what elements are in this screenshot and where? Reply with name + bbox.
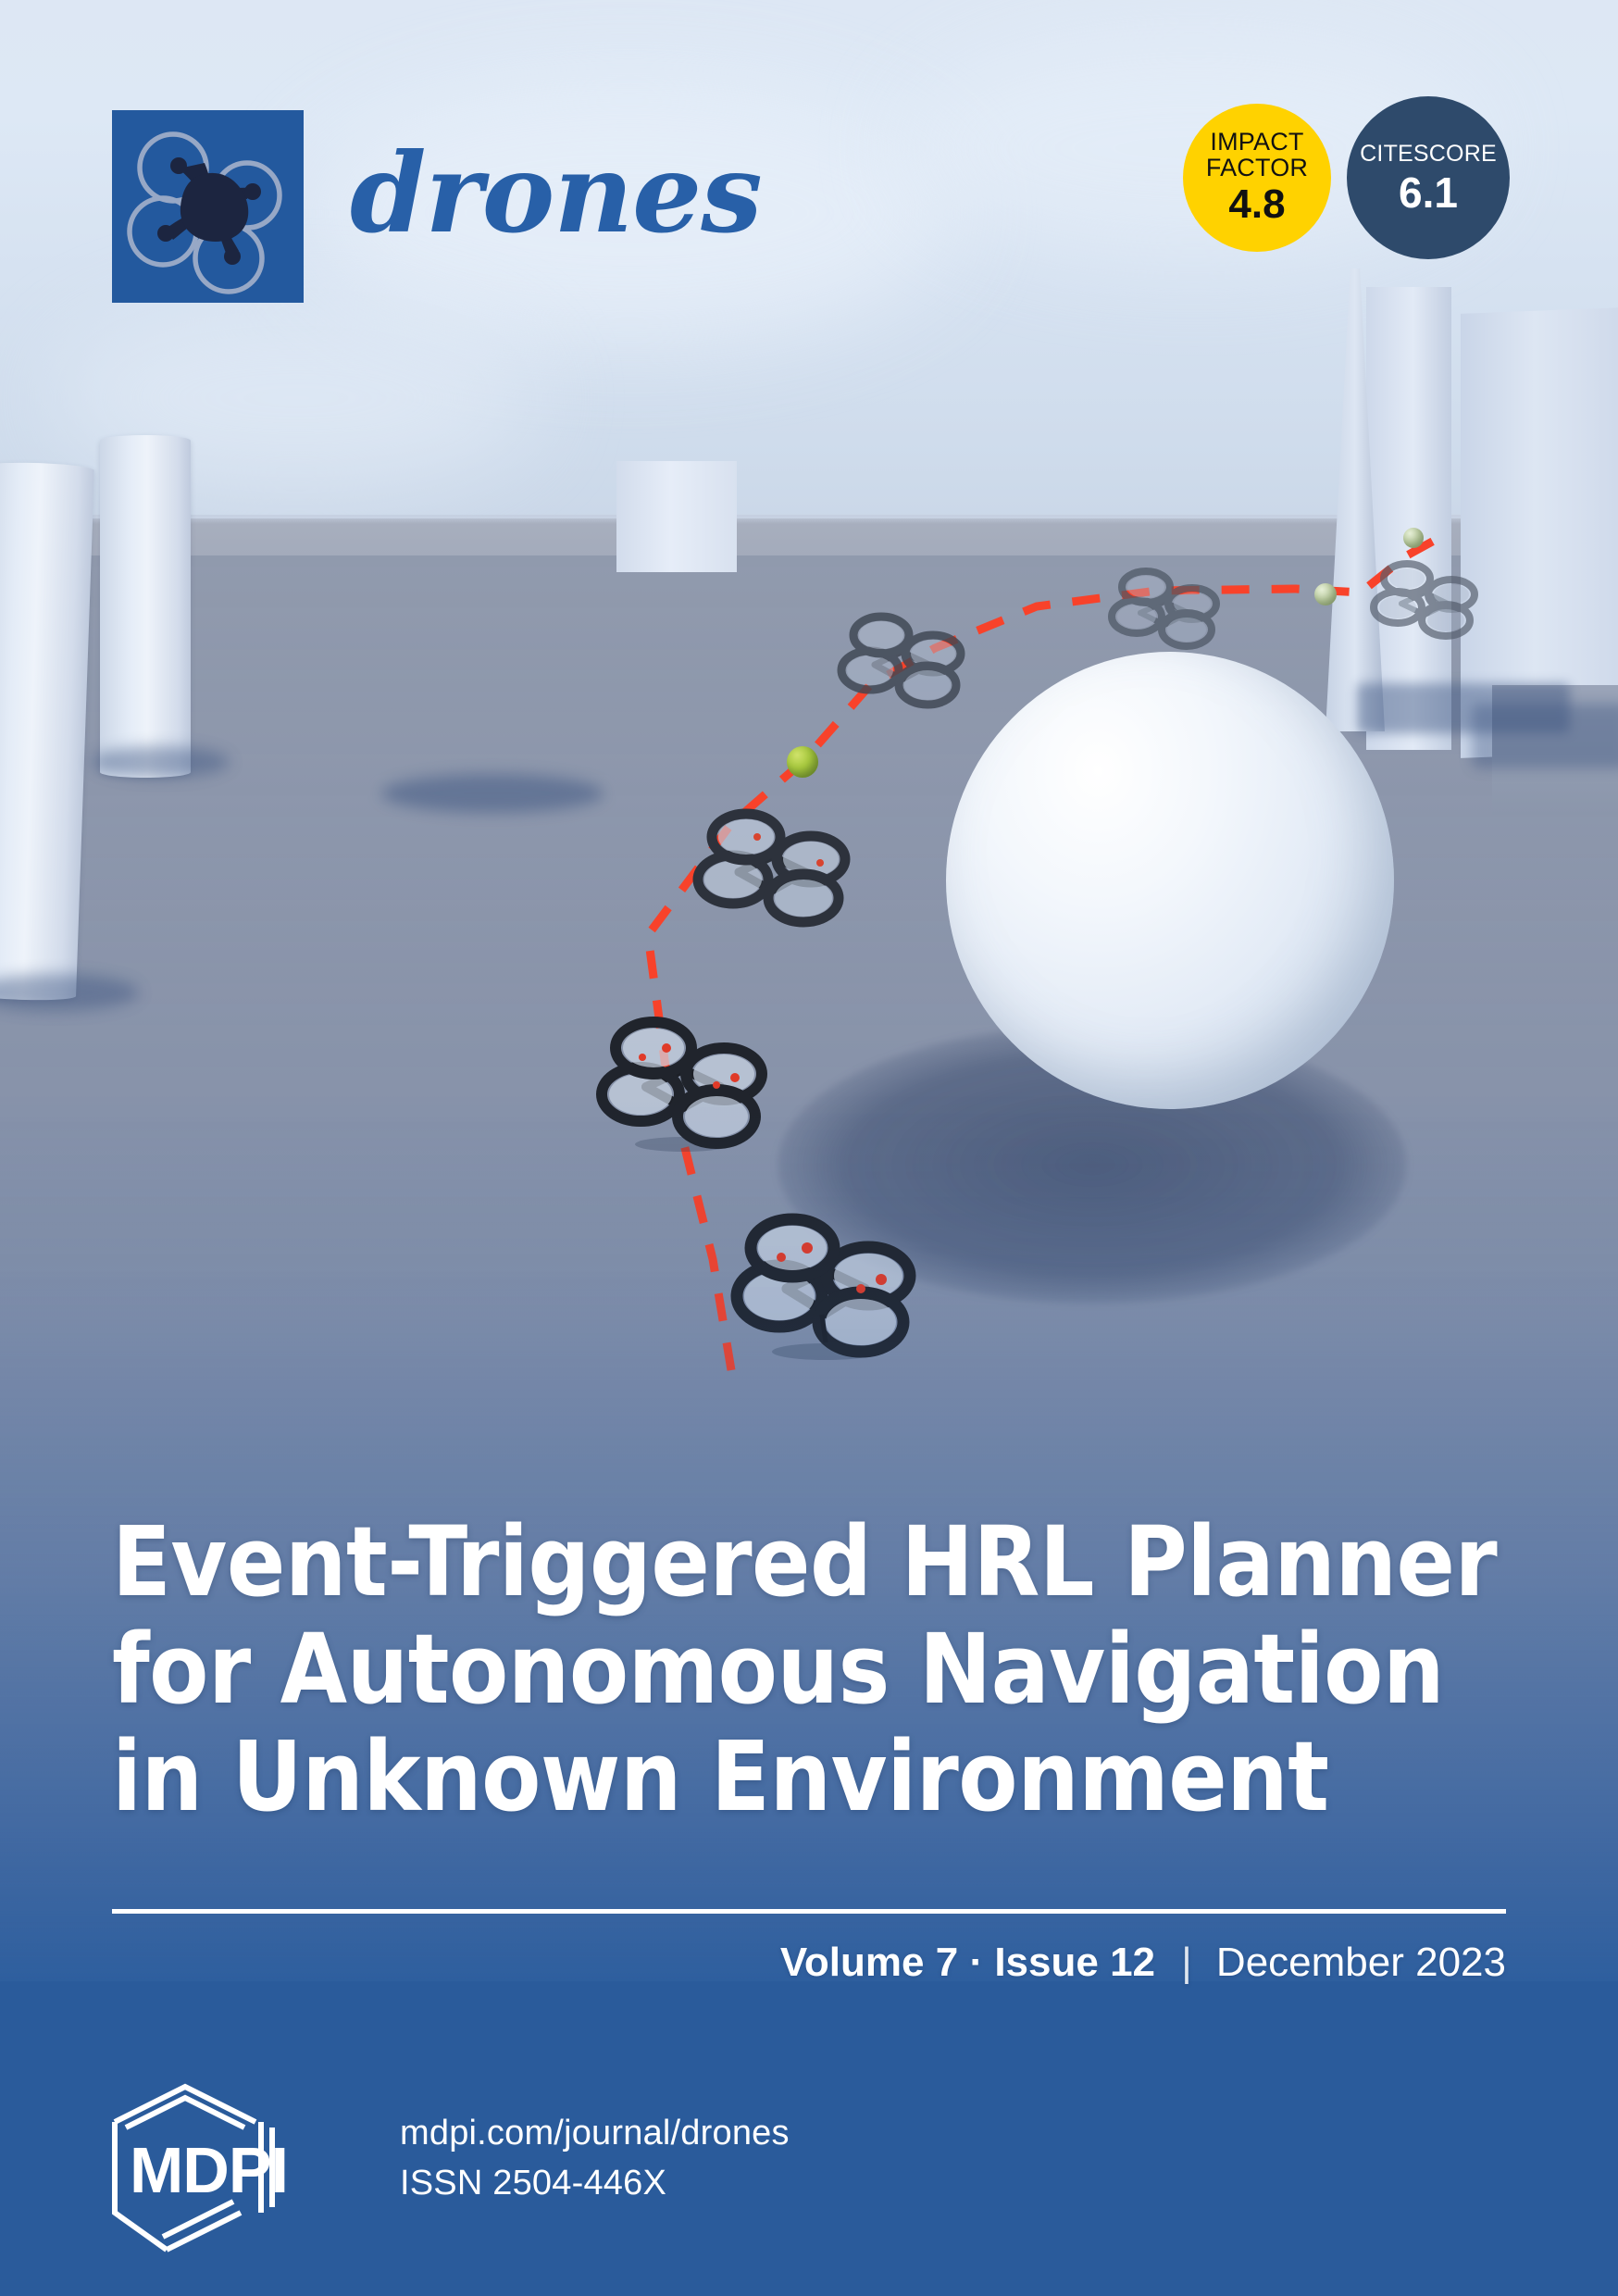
volume-issue-dot: · [969, 1940, 983, 1985]
box-obstacle [616, 461, 737, 572]
mdpi-logo[interactable]: MDPI [109, 2083, 324, 2254]
journal-wordmark[interactable]: drones [350, 139, 762, 248]
obstacle-shadow [91, 746, 230, 778]
title-divider [112, 1909, 1506, 1914]
mdpi-hexagon-logo: MDPI [109, 2083, 324, 2254]
volume-label: Volume 7 [780, 1940, 958, 1985]
cover-title-line-3: in Unknown Environment [112, 1724, 1500, 1831]
impact-factor-badge[interactable]: IMPACT FACTOR 4.8 [1183, 104, 1331, 252]
issue-label: Issue 12 [994, 1940, 1155, 1985]
cover-title: Event-Triggered HRL Planner for Autonomo… [112, 1509, 1500, 1831]
quadcopter-drone [833, 607, 970, 715]
journal-issn: ISSN 2504-446X [400, 2159, 790, 2209]
quadcopter-drone [1105, 563, 1224, 655]
cover-title-line-2: for Autonomous Navigation [112, 1616, 1500, 1724]
obstacle-shadow [381, 774, 604, 813]
footer-info: mdpi.com/journal/drones ISSN 2504-446X [400, 2109, 790, 2209]
issue-separator: | [1181, 1942, 1191, 1983]
waypoint-marker [1314, 583, 1337, 605]
issue-date: December 2023 [1216, 1940, 1506, 1985]
waypoint-marker [1403, 528, 1424, 548]
cover-title-line-1: Event-Triggered HRL Planner [112, 1509, 1500, 1616]
citescore-value: 6.1 [1399, 171, 1458, 214]
impact-factor-value: 4.8 [1228, 184, 1285, 226]
issue-line: Volume 7 · Issue 12 | December 2023 [112, 1942, 1506, 1983]
journal-logo[interactable] [112, 110, 304, 303]
journal-cover: drones IMPACT FACTOR 4.8 CITESCORE 6.1 E… [0, 0, 1618, 2296]
waypoint-marker [787, 746, 818, 778]
cylinder-obstacle [100, 435, 191, 778]
impact-factor-label-2: FACTOR [1206, 154, 1308, 181]
svg-text:MDPI: MDPI [130, 2134, 288, 2206]
quadcopter-drone [1368, 555, 1481, 644]
quadcopter-drone-icon [112, 110, 304, 303]
obstacle-shadow [1472, 704, 1618, 768]
journal-url[interactable]: mdpi.com/journal/drones [400, 2109, 790, 2159]
citescore-badge[interactable]: CITESCORE 6.1 [1347, 96, 1510, 259]
impact-factor-label-1: IMPACT [1210, 128, 1303, 156]
sphere-obstacle [946, 652, 1394, 1109]
citescore-label: CITESCORE [1360, 143, 1497, 166]
quadcopter-drone [687, 802, 855, 935]
